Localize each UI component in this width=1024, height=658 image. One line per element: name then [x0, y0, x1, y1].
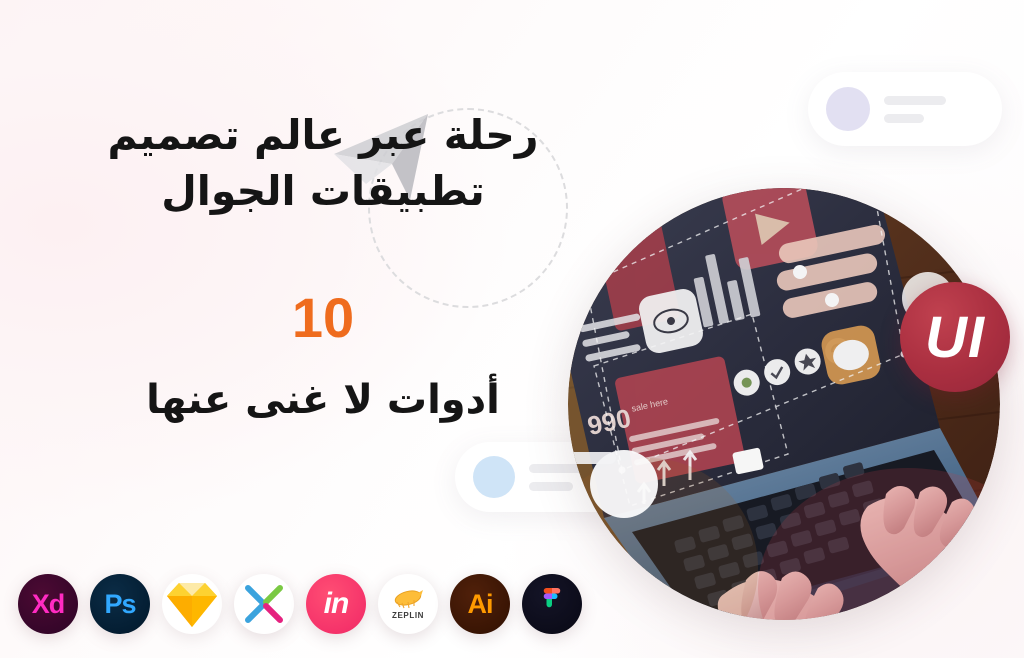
illustrator-icon[interactable]: Ai	[450, 574, 510, 634]
sketch-diamond-icon	[166, 579, 218, 629]
page-title: رحلة عبر عالم تصميم تطبيقات الجوال	[13, 108, 633, 220]
design-tools-row: Xd Ps in	[18, 574, 582, 634]
adobe-xd-label: Xd	[32, 591, 65, 618]
count-number: 10	[13, 290, 633, 346]
laptop-ui-illustration: 990 sale here	[568, 188, 1000, 620]
photoshop-icon[interactable]: Ps	[90, 574, 150, 634]
zeplin-icon[interactable]: ZEPLIN	[378, 574, 438, 634]
placeholder-line	[884, 114, 924, 123]
hero-photo: 990 sale here	[568, 188, 1000, 620]
invision-label: in	[324, 589, 349, 619]
zeplin-label: ZEPLIN	[392, 611, 424, 620]
adobe-xd-icon[interactable]: Xd	[18, 574, 78, 634]
sketch-icon[interactable]	[162, 574, 222, 634]
decorative-card-top	[808, 72, 1002, 146]
invision-icon[interactable]: in	[306, 574, 366, 634]
placeholder-lines	[884, 96, 946, 123]
axure-icon[interactable]	[234, 574, 294, 634]
placeholder-line	[529, 482, 573, 491]
figma-icon[interactable]	[522, 574, 582, 634]
page-subtitle: أدوات لا غنى عنها	[13, 374, 633, 426]
promo-banner: رحلة عبر عالم تصميم تطبيقات الجوال 10 أد…	[0, 0, 1024, 658]
figma-logo-icon	[541, 588, 563, 621]
illustrator-label: Ai	[468, 591, 493, 618]
avatar	[473, 456, 515, 498]
photoshop-label: Ps	[104, 591, 135, 618]
axure-x-icon	[244, 584, 284, 624]
avatar	[826, 87, 870, 131]
zeplin-blimp-icon	[392, 589, 424, 609]
placeholder-line	[884, 96, 946, 105]
